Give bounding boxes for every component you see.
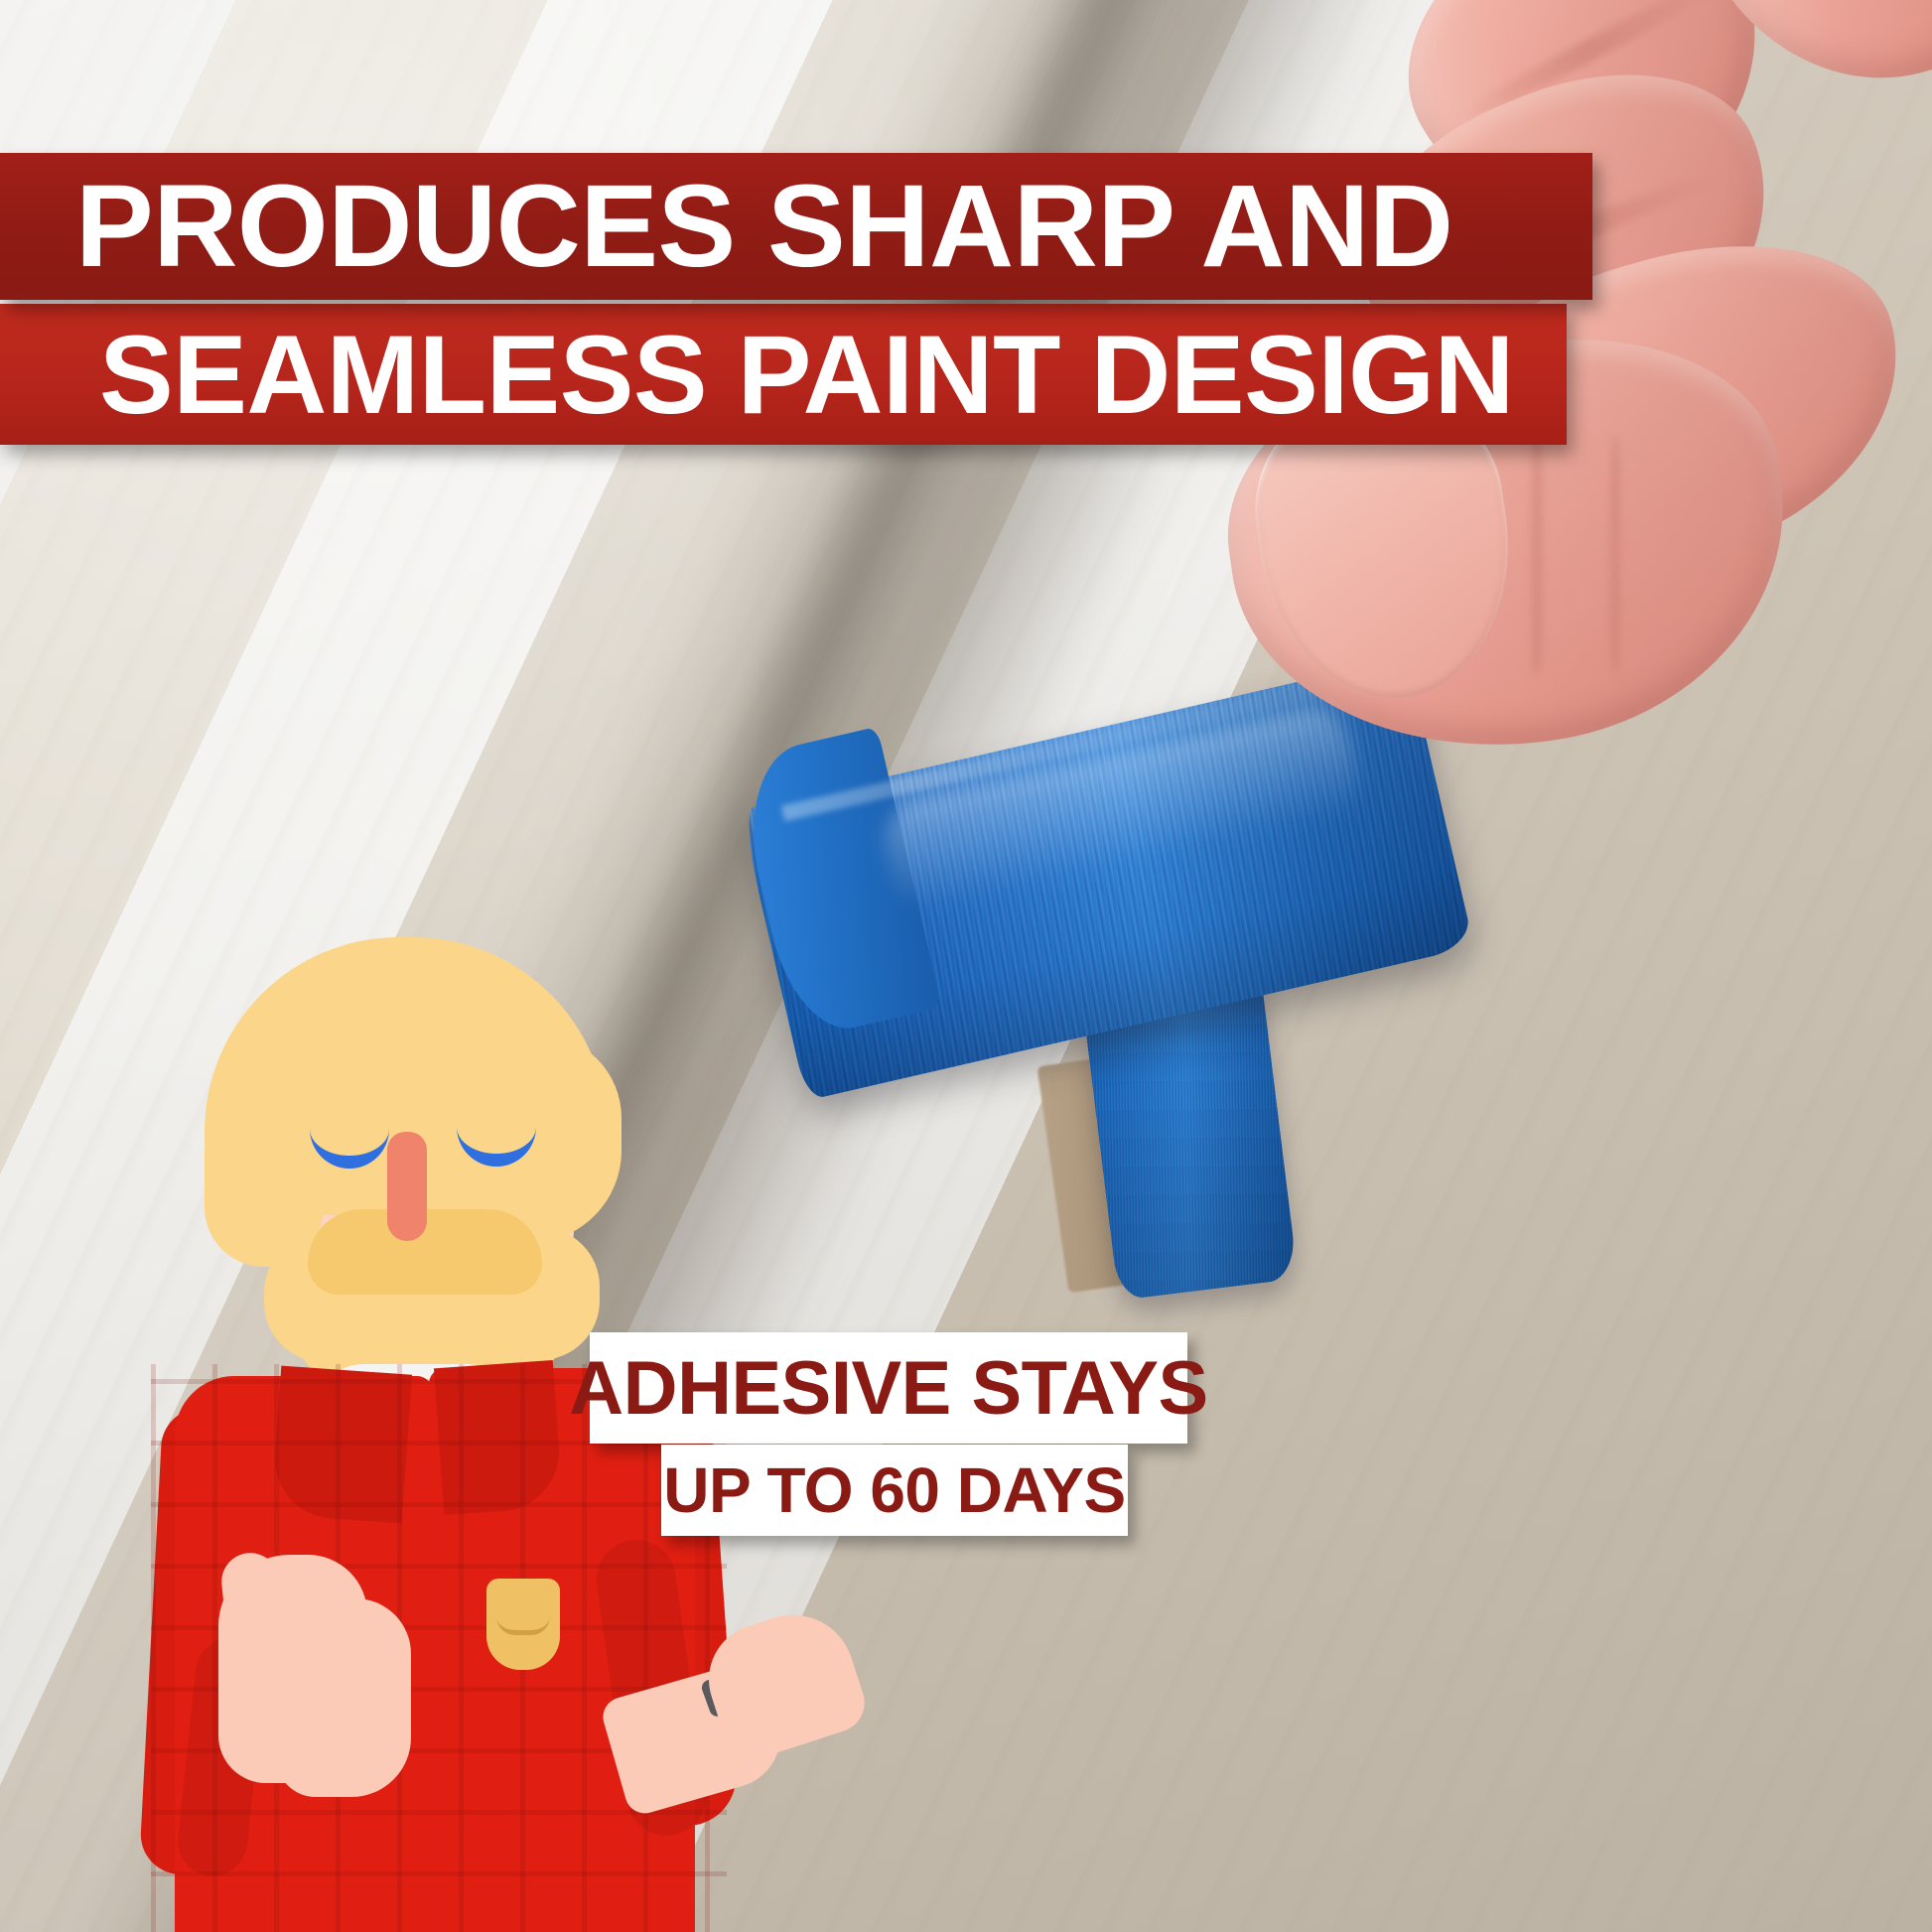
headline-banner-line-1: PRODUCES SHARP AND <box>0 153 1592 300</box>
thumb-crease-a <box>1529 427 1545 675</box>
photo-hand <box>1112 0 1932 963</box>
tape-lower-tail <box>1082 983 1298 1301</box>
hand-left-fist <box>276 1598 411 1797</box>
thumb-crease-b <box>1608 437 1622 675</box>
callout-up-to-60-days: UP TO 60 DAYS <box>661 1445 1128 1536</box>
marketing-graphic: PRODUCES SHARP AND SEAMLESS PAINT DESIGN <box>0 0 1932 1932</box>
nose <box>387 1132 427 1241</box>
callout-adhesive-stays: ADHESIVE STAYS <box>590 1332 1187 1444</box>
collar-left <box>271 1366 412 1524</box>
headline-banner-line-2: SEAMLESS PAINT DESIGN <box>0 304 1567 445</box>
